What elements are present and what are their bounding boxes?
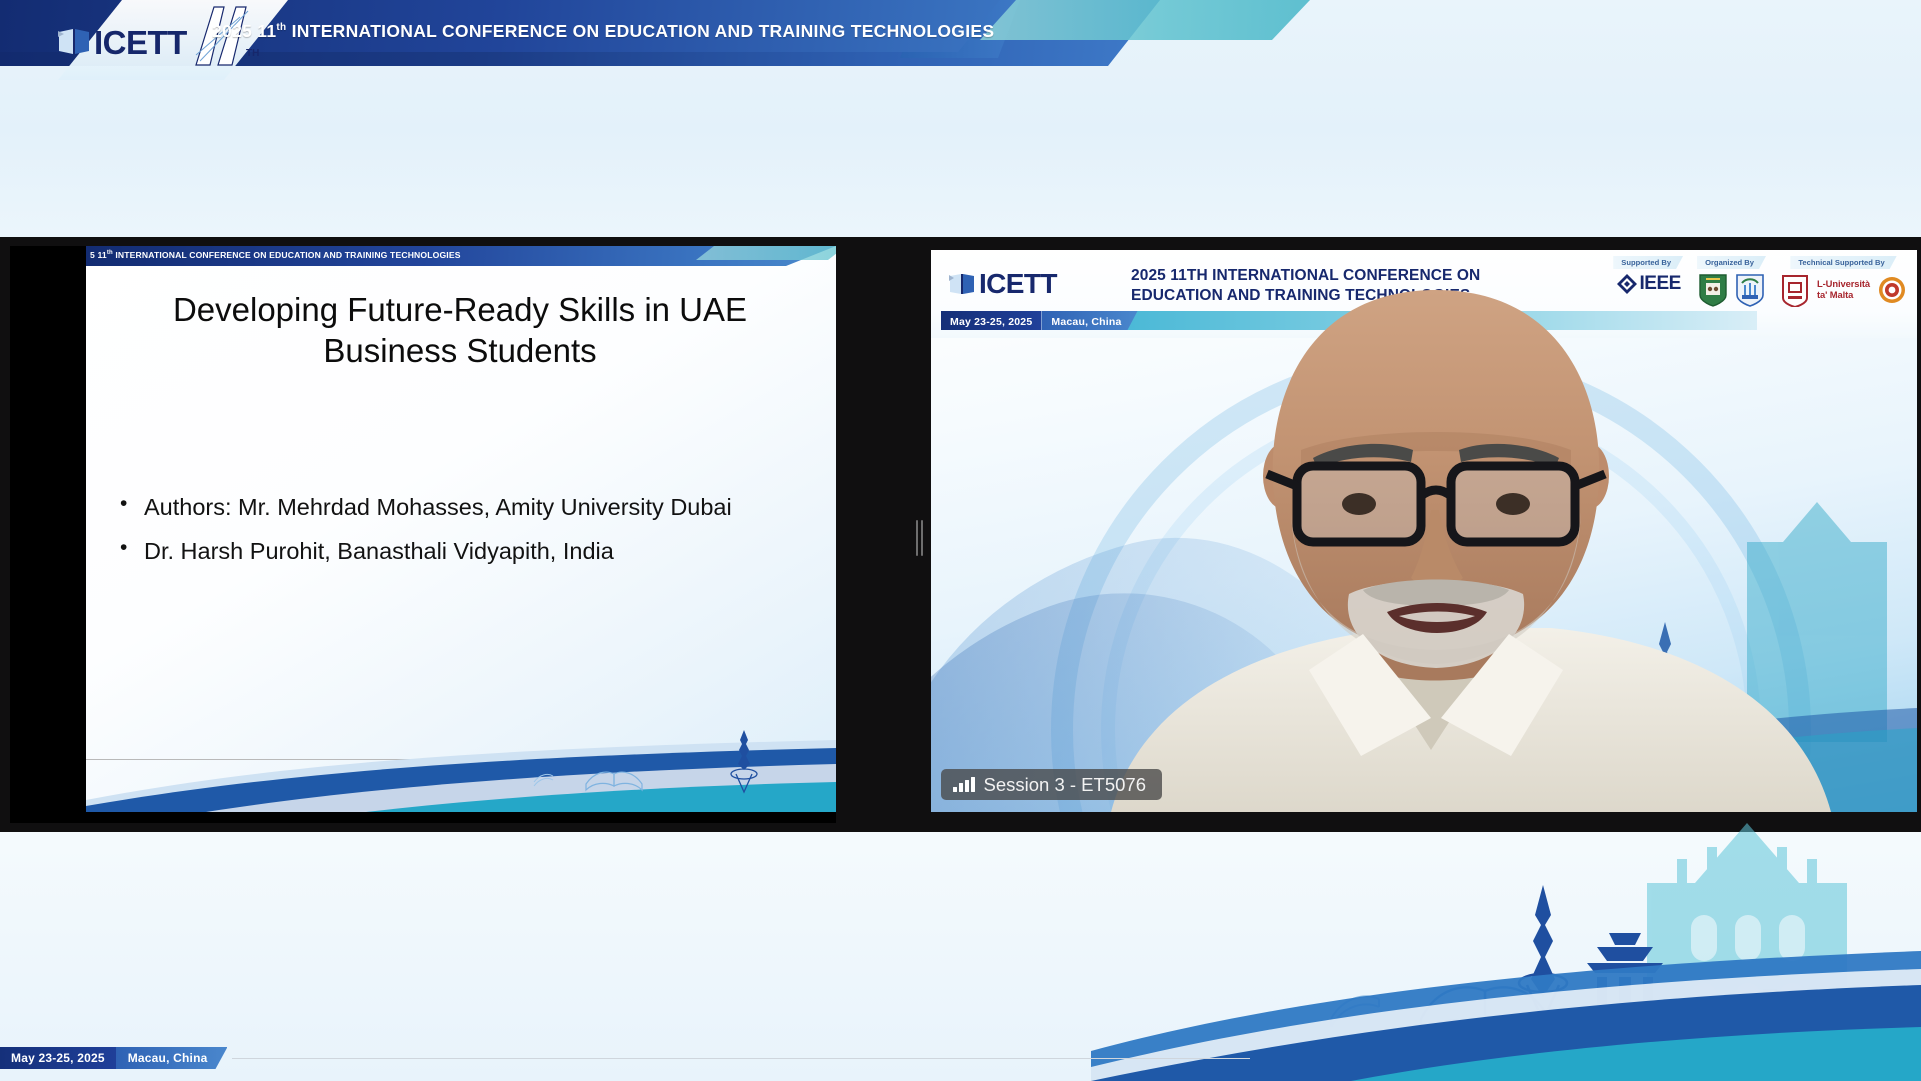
conference-session-viewer: ICETT TH 2025 11th INTERNATIONAL CONFERE…	[0, 0, 1921, 1081]
slide-banner-text: 5 11th INTERNATIONAL CONFERENCE ON EDUCA…	[90, 250, 461, 260]
header-teal-wedge-shape	[980, 0, 1310, 40]
page-title-rest: INTERNATIONAL CONFERENCE ON EDUCATION AN…	[286, 21, 994, 41]
footer-date: May 23-25, 2025	[0, 1047, 116, 1069]
presenter-video-panel[interactable]: ICETT 2025 11TH INTERNATIONAL CONFERENCE…	[931, 250, 1917, 812]
signal-bar	[959, 783, 963, 792]
panel-resize-handle[interactable]	[913, 237, 927, 832]
slide-share-panel[interactable]: 5 11th INTERNATIONAL CONFERENCE ON EDUCA…	[10, 246, 836, 823]
virtual-background: ICETT 2025 11TH INTERNATIONAL CONFERENCE…	[931, 250, 1917, 812]
page-title-ordinal-suffix: th	[276, 22, 286, 33]
signal-bar	[953, 787, 957, 792]
signal-bar	[971, 777, 975, 792]
slide-banner-prefix: 5 11	[90, 250, 107, 260]
slide-top-banner-teal-accent	[696, 246, 836, 260]
signal-bar	[965, 780, 969, 792]
session-label-badge: Session 3 - ET5076	[941, 769, 1162, 800]
resize-grip-bar	[916, 520, 918, 556]
slide-bullet-list: Authors: Mr. Mehrdad Mohasses, Amity Uni…	[110, 491, 810, 580]
signal-bars-icon	[953, 777, 975, 792]
footer-rule	[232, 1058, 1250, 1059]
slide-bullet-item: Authors: Mr. Mehrdad Mohasses, Amity Uni…	[110, 491, 810, 523]
footer-date-location-bar: May 23-25, 2025 Macau, China	[0, 1047, 227, 1069]
slide-title: Developing Future-Ready Skills in UAE Bu…	[120, 290, 800, 372]
presenter-video-feed	[931, 250, 1917, 812]
page-header-banner: ICETT TH 2025 11th INTERNATIONAL CONFERE…	[0, 0, 1921, 80]
icett-logo-th-suffix: TH	[246, 48, 259, 59]
page-title-prefix: 2025 11	[212, 21, 276, 41]
session-label-text: Session 3 - ET5076	[984, 774, 1146, 796]
page-title: 2025 11th INTERNATIONAL CONFERENCE ON ED…	[212, 21, 994, 42]
resize-grip-bar	[921, 520, 923, 556]
macau-skyline-decoration-icon	[86, 692, 836, 812]
footer-city: Macau, China	[116, 1047, 228, 1069]
slide-banner-rest: INTERNATIONAL CONFERENCE ON EDUCATION AN…	[113, 250, 461, 260]
open-book-icon	[58, 28, 92, 58]
slide-bullet-item: Dr. Harsh Purohit, Banasthali Vidyapith,…	[110, 535, 810, 567]
slide: 5 11th INTERNATIONAL CONFERENCE ON EDUCA…	[86, 246, 836, 812]
